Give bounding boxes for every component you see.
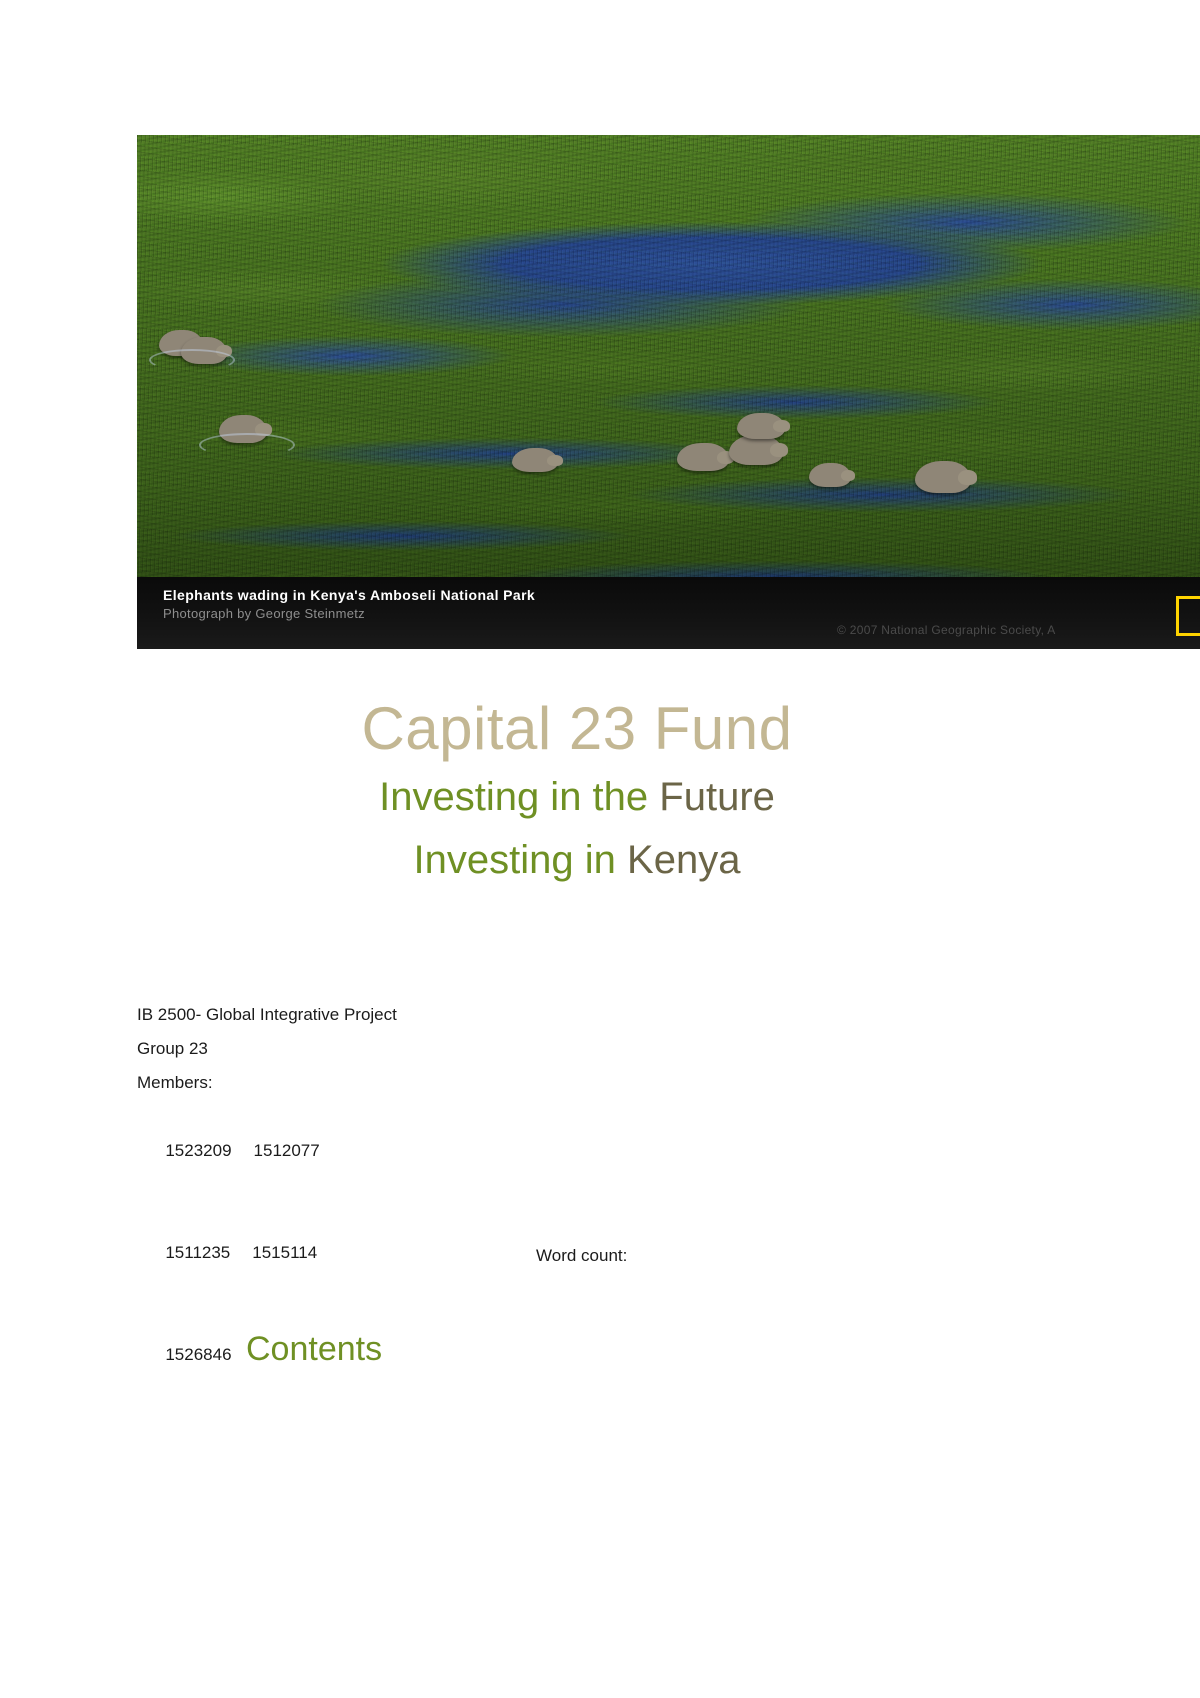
subtitle-1-lead: Investing in the <box>379 775 659 819</box>
elephant <box>737 413 785 439</box>
subtitle-line-1: Investing in the Future <box>0 775 1200 820</box>
members-label: Members: <box>137 1066 397 1100</box>
member-id-row: 15232091512077 <box>137 1100 397 1202</box>
member-id: 1523209 <box>165 1141 231 1160</box>
contents-heading: Contents <box>246 1330 382 1369</box>
photo-copyright-notice: © 2007 National Geographic Society, A <box>837 623 1056 637</box>
photo-caption-title: Elephants wading in Kenya's Amboseli Nat… <box>163 587 535 603</box>
word-count-label: Word count: <box>536 1246 627 1266</box>
subtitle-line-2: Investing in Kenya <box>0 838 1200 883</box>
page-title: Capital 23 Fund <box>0 694 1200 763</box>
water-wake <box>199 433 295 457</box>
photo-caption-bar: Elephants wading in Kenya's Amboseli Nat… <box>137 577 1200 649</box>
document-page: Elephants wading in Kenya's Amboseli Nat… <box>0 0 1200 1698</box>
member-id: 1512077 <box>254 1141 320 1160</box>
elephant <box>729 435 783 465</box>
member-id-row: 15112351515114 <box>137 1202 397 1304</box>
elephant <box>512 448 558 472</box>
elephant <box>809 463 851 487</box>
subtitle-1-accent: Future <box>659 775 775 819</box>
water-wake <box>149 349 235 371</box>
course-line: IB 2500- Global Integrative Project <box>137 998 397 1032</box>
member-id: 1526846 <box>165 1345 231 1364</box>
amboseli-elephants-photo: Elephants wading in Kenya's Amboseli Nat… <box>137 135 1200 649</box>
photo-texture <box>137 135 1200 649</box>
member-id: 1515114 <box>252 1243 317 1262</box>
subtitle-2-accent: Kenya <box>627 838 740 882</box>
national-geographic-logo-icon <box>1176 596 1200 636</box>
subtitle-2-lead: Investing in <box>414 838 627 882</box>
photo-caption-credit: Photograph by George Steinmetz <box>163 606 365 621</box>
member-id: 1511235 <box>165 1243 230 1262</box>
group-line: Group 23 <box>137 1032 397 1066</box>
elephant <box>677 443 729 471</box>
elephant <box>915 461 971 493</box>
